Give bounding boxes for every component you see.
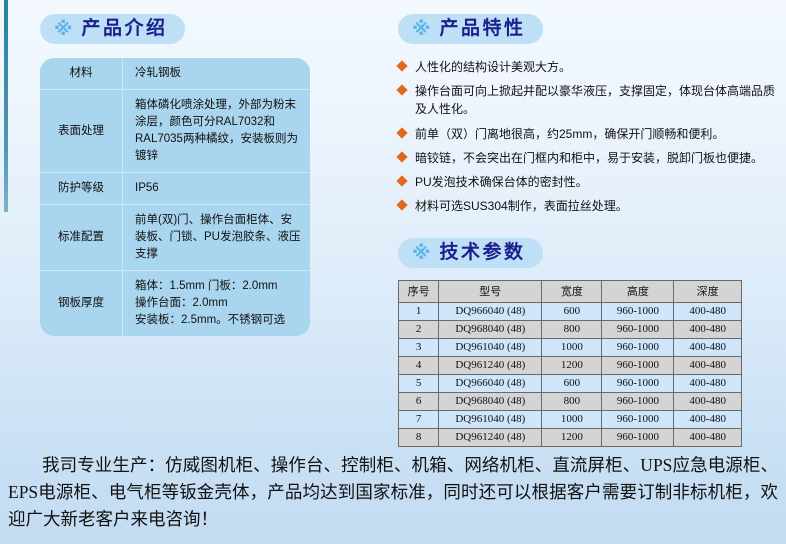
tech-params-table: 序号型号宽度高度深度 1DQ966040 (48)600960-1000400-… (398, 280, 742, 447)
tech-params-row: 1DQ966040 (48)600960-1000400-480 (399, 302, 742, 320)
feature-list-item: PU发泡技术确保台体的密封性。 (398, 173, 778, 191)
tech-params-cell-height: 960-1000 (602, 428, 674, 446)
tech-params-cell-no: 6 (399, 392, 439, 410)
tech-params-row: 6DQ968040 (48)800960-1000400-480 (399, 392, 742, 410)
spec-row-key: 材料 (40, 58, 123, 90)
feature-list-item-text: 前单（双）门离地很高，约25mm，确保开门顺畅和便利。 (415, 127, 724, 141)
diamond-bullet-icon (396, 85, 407, 96)
tech-params-cell-depth: 400-480 (674, 338, 742, 356)
tech-params-cell-width: 1000 (542, 410, 602, 428)
tech-params-cell-depth: 400-480 (674, 356, 742, 374)
tech-params-cell-no: 7 (399, 410, 439, 428)
spec-row: 防护等级IP56 (40, 173, 310, 205)
tech-params-cell-depth: 400-480 (674, 410, 742, 428)
feature-list-item-text: 操作台面可向上掀起并配以豪华液压，支撑固定，体现台体高端品质及人性化。 (415, 84, 775, 116)
diamond-bullet-icon (396, 60, 407, 71)
diamond-bullet-icon (396, 127, 407, 138)
tech-params-cell-width: 1200 (542, 428, 602, 446)
tech-params-row: 5DQ966040 (48)600960-1000400-480 (399, 374, 742, 392)
diamond-bullet-icon (396, 176, 407, 187)
tech-params-cell-depth: 400-480 (674, 428, 742, 446)
tech-params-cell-model: DQ961240 (48) (439, 356, 542, 374)
product-features-heading-text: 产品特性 (439, 19, 525, 38)
tech-params-cell-no: 5 (399, 374, 439, 392)
spec-row-value: 冷轧钢板 (123, 58, 310, 90)
spec-row: 钢板厚度箱体：1.5mm 门板：2.0mm 操作台面：2.0mm 安装板：2.5… (40, 271, 310, 336)
tech-params-cell-depth: 400-480 (674, 392, 742, 410)
tech-params-cell-depth: 400-480 (674, 320, 742, 338)
spec-row-key: 表面处理 (40, 90, 123, 173)
feature-list-item-text: 暗铰链，不会突出在门框内和柜中，易于安装，脱卸门板也便捷。 (415, 151, 763, 165)
tech-params-cell-model: DQ961040 (48) (439, 338, 542, 356)
company-footer-note: 我司专业生产：仿威图机柜、操作台、控制柜、机箱、网络机柜、直流屏柜、UPS应急电… (8, 452, 778, 533)
tech-params-cell-model: DQ968040 (48) (439, 320, 542, 338)
tech-params-cell-model: DQ966040 (48) (439, 374, 542, 392)
tech-params-column-header: 宽度 (542, 280, 602, 302)
feature-list-item: 材料可选SUS304制作，表面拉丝处理。 (398, 197, 778, 215)
tech-params-cell-height: 960-1000 (602, 374, 674, 392)
tech-params-cell-model: DQ961240 (48) (439, 428, 542, 446)
tech-params-cell-no: 3 (399, 338, 439, 356)
spec-row-value: IP56 (123, 173, 310, 205)
tech-params-cell-height: 960-1000 (602, 410, 674, 428)
feature-list-item-text: PU发泡技术确保台体的密封性。 (415, 175, 588, 189)
product-features-heading-badge: ※ 产品特性 (398, 14, 543, 44)
tech-params-cell-no: 2 (399, 320, 439, 338)
tech-params-cell-height: 960-1000 (602, 302, 674, 320)
feature-list-item: 操作台面可向上掀起并配以豪华液压，支撑固定，体现台体高端品质及人性化。 (398, 82, 778, 118)
product-intro-section: ※ 产品介绍 材料冷轧钢板表面处理箱体磷化喷涂处理，外部为粉末涂层，颜色可分RA… (40, 14, 370, 336)
tech-params-heading-badge: ※ 技术参数 (398, 238, 543, 268)
tech-params-row: 4DQ961240 (48)1200960-1000400-480 (399, 356, 742, 374)
tech-params-cell-width: 800 (542, 320, 602, 338)
tech-params-column-header: 深度 (674, 280, 742, 302)
tech-params-cell-height: 960-1000 (602, 392, 674, 410)
tech-params-cell-width: 600 (542, 302, 602, 320)
product-features-section: ※ 产品特性 人性化的结构设计美观大方。操作台面可向上掀起并配以豪华液压，支撑固… (398, 14, 778, 447)
spec-row-value: 箱体磷化喷涂处理，外部为粉末涂层，颜色可分RAL7032和RAL7035两种橘纹… (123, 90, 310, 173)
tech-params-table-body: 1DQ966040 (48)600960-1000400-4802DQ96804… (399, 302, 742, 446)
spec-row-key: 标准配置 (40, 205, 123, 271)
tech-params-row: 3DQ961040 (48)1000960-1000400-480 (399, 338, 742, 356)
tech-params-cell-depth: 400-480 (674, 302, 742, 320)
asterisk-icon: ※ (412, 244, 430, 263)
specification-table: 材料冷轧钢板表面处理箱体磷化喷涂处理，外部为粉末涂层，颜色可分RAL7032和R… (40, 58, 310, 336)
tech-params-cell-depth: 400-480 (674, 374, 742, 392)
tech-params-cell-model: DQ968040 (48) (439, 392, 542, 410)
spec-row: 材料冷轧钢板 (40, 58, 310, 90)
tech-params-header-row: 序号型号宽度高度深度 (399, 280, 742, 302)
spec-row: 表面处理箱体磷化喷涂处理，外部为粉末涂层，颜色可分RAL7032和RAL7035… (40, 90, 310, 173)
spec-row-key: 钢板厚度 (40, 271, 123, 336)
tech-params-row: 2DQ968040 (48)800960-1000400-480 (399, 320, 742, 338)
diamond-bullet-icon (396, 200, 407, 211)
tech-params-row: 7DQ961040 (48)1000960-1000400-480 (399, 410, 742, 428)
product-intro-heading-text: 产品介绍 (81, 19, 167, 38)
tech-params-cell-width: 1200 (542, 356, 602, 374)
specification-table-body: 材料冷轧钢板表面处理箱体磷化喷涂处理，外部为粉末涂层，颜色可分RAL7032和R… (40, 58, 310, 336)
tech-params-column-header: 高度 (602, 280, 674, 302)
tech-params-cell-model: DQ961040 (48) (439, 410, 542, 428)
spec-row-value: 前单(双)门、操作台面柜体、安装板、门锁、PU发泡胶条、液压支撑 (123, 205, 310, 271)
asterisk-icon: ※ (54, 20, 72, 39)
tech-params-column-header: 序号 (399, 280, 439, 302)
spec-row: 标准配置前单(双)门、操作台面柜体、安装板、门锁、PU发泡胶条、液压支撑 (40, 205, 310, 271)
feature-list: 人性化的结构设计美观大方。操作台面可向上掀起并配以豪华液压，支撑固定，体现台体高… (398, 58, 778, 216)
spec-row-value: 箱体：1.5mm 门板：2.0mm 操作台面：2.0mm 安装板：2.5mm。不… (123, 271, 310, 336)
tech-params-column-header: 型号 (439, 280, 542, 302)
diamond-bullet-icon (396, 151, 407, 162)
product-intro-heading-badge: ※ 产品介绍 (40, 14, 185, 44)
tech-params-cell-no: 1 (399, 302, 439, 320)
tech-params-cell-no: 8 (399, 428, 439, 446)
tech-params-cell-height: 960-1000 (602, 356, 674, 374)
tech-params-cell-width: 800 (542, 392, 602, 410)
tech-params-cell-width: 600 (542, 374, 602, 392)
feature-list-item: 前单（双）门离地很高，约25mm，确保开门顺畅和便利。 (398, 125, 778, 143)
tech-params-heading-text: 技术参数 (439, 243, 525, 262)
feature-list-item-text: 人性化的结构设计美观大方。 (415, 60, 571, 74)
feature-list-item: 暗铰链，不会突出在门框内和柜中，易于安装，脱卸门板也便捷。 (398, 149, 778, 167)
tech-params-row: 8DQ961240 (48)1200960-1000400-480 (399, 428, 742, 446)
tech-params-cell-no: 4 (399, 356, 439, 374)
tech-params-cell-height: 960-1000 (602, 338, 674, 356)
feature-list-item: 人性化的结构设计美观大方。 (398, 58, 778, 76)
feature-list-item-text: 材料可选SUS304制作，表面拉丝处理。 (415, 199, 628, 213)
spec-row-key: 防护等级 (40, 173, 123, 205)
left-accent-rule (4, 0, 8, 212)
tech-params-table-head: 序号型号宽度高度深度 (399, 280, 742, 302)
asterisk-icon: ※ (412, 20, 430, 39)
tech-params-cell-model: DQ966040 (48) (439, 302, 542, 320)
tech-params-cell-width: 1000 (542, 338, 602, 356)
tech-params-cell-height: 960-1000 (602, 320, 674, 338)
